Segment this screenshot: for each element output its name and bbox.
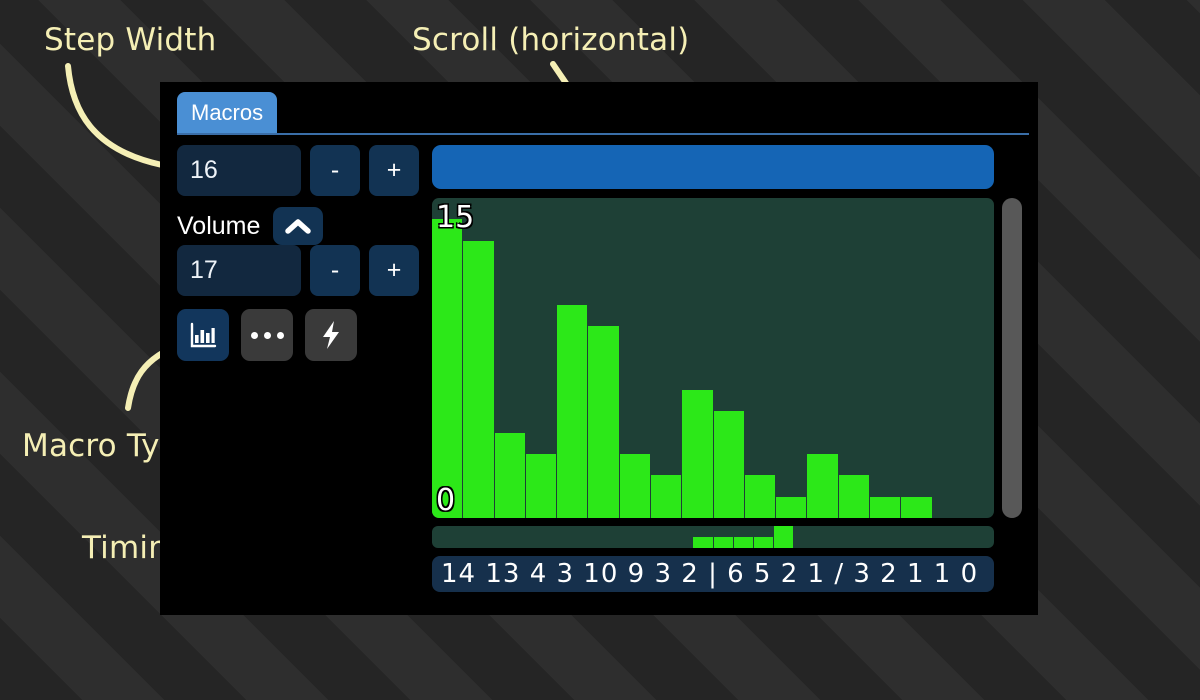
volume-input[interactable] [177,245,301,296]
bar[interactable] [620,454,651,518]
overview-strip[interactable] [432,526,994,548]
bar[interactable] [432,219,463,518]
annotation-step-width: Step Width [44,22,217,58]
step-width-increment-button[interactable]: + [369,145,419,196]
tool-button-row [177,309,427,361]
step-width-decrement-button[interactable]: - [310,145,360,196]
ellipsis-icon [251,332,284,339]
overview-bar [693,537,713,548]
volume-decrement-button[interactable]: - [310,245,360,296]
bar[interactable] [870,497,901,518]
bar[interactable] [557,305,588,518]
chevron-up-icon [285,218,311,234]
step-width-input[interactable] [177,145,301,196]
trigger-button[interactable] [305,309,357,361]
bar[interactable] [901,497,932,518]
sequence-readout[interactable]: 14 13 4 3 10 9 3 2 | 6 5 2 1 / 3 2 1 1 0 [432,556,994,592]
control-column: - + Volume - + [177,145,427,361]
overview-bar [774,526,794,548]
tab-bar: Macros [160,82,1038,135]
bar-series [432,198,994,518]
chart-column: 15 0 14 13 4 3 10 9 3 2 | 6 5 2 1 / 3 2 … [432,145,1022,592]
lightning-icon [320,320,342,350]
volume-value-row: - + [177,245,427,296]
bar[interactable] [495,433,526,518]
bar-chart-icon [189,321,217,349]
volume-increment-button[interactable]: + [369,245,419,296]
bar[interactable] [651,475,682,518]
annotation-scroll: Scroll (horizontal) [412,22,689,58]
volume-collapse-button[interactable] [273,207,323,245]
bar[interactable] [682,390,713,518]
tab-macros[interactable]: Macros [177,92,277,133]
chart-area: 15 0 [432,198,1022,518]
timing-options-button[interactable] [241,309,293,361]
bar[interactable] [526,454,557,518]
page-backdrop: Step Width Scroll (horizontal) Macro Typ… [0,0,1200,700]
bar[interactable] [839,475,870,518]
step-width-row: - + [177,145,427,196]
overview-bar [754,537,774,548]
bar[interactable] [714,411,745,518]
volume-label-row: Volume [177,207,427,245]
bar[interactable] [588,326,619,518]
macro-type-button[interactable] [177,309,229,361]
bar[interactable] [463,241,494,518]
vertical-scrollbar[interactable] [1002,198,1022,518]
bar[interactable] [807,454,838,518]
tab-underline [177,133,1029,135]
horizontal-scrollbar[interactable] [432,145,994,189]
bar[interactable] [776,497,807,518]
bar[interactable] [745,475,776,518]
leader-line-step-width [68,66,162,165]
overview-bar [734,537,754,548]
volume-label: Volume [177,212,260,241]
macro-bar-chart[interactable]: 15 0 [432,198,994,518]
macro-editor-panel: Macros - + Volume - + [160,82,1038,615]
overview-bar [714,537,734,548]
